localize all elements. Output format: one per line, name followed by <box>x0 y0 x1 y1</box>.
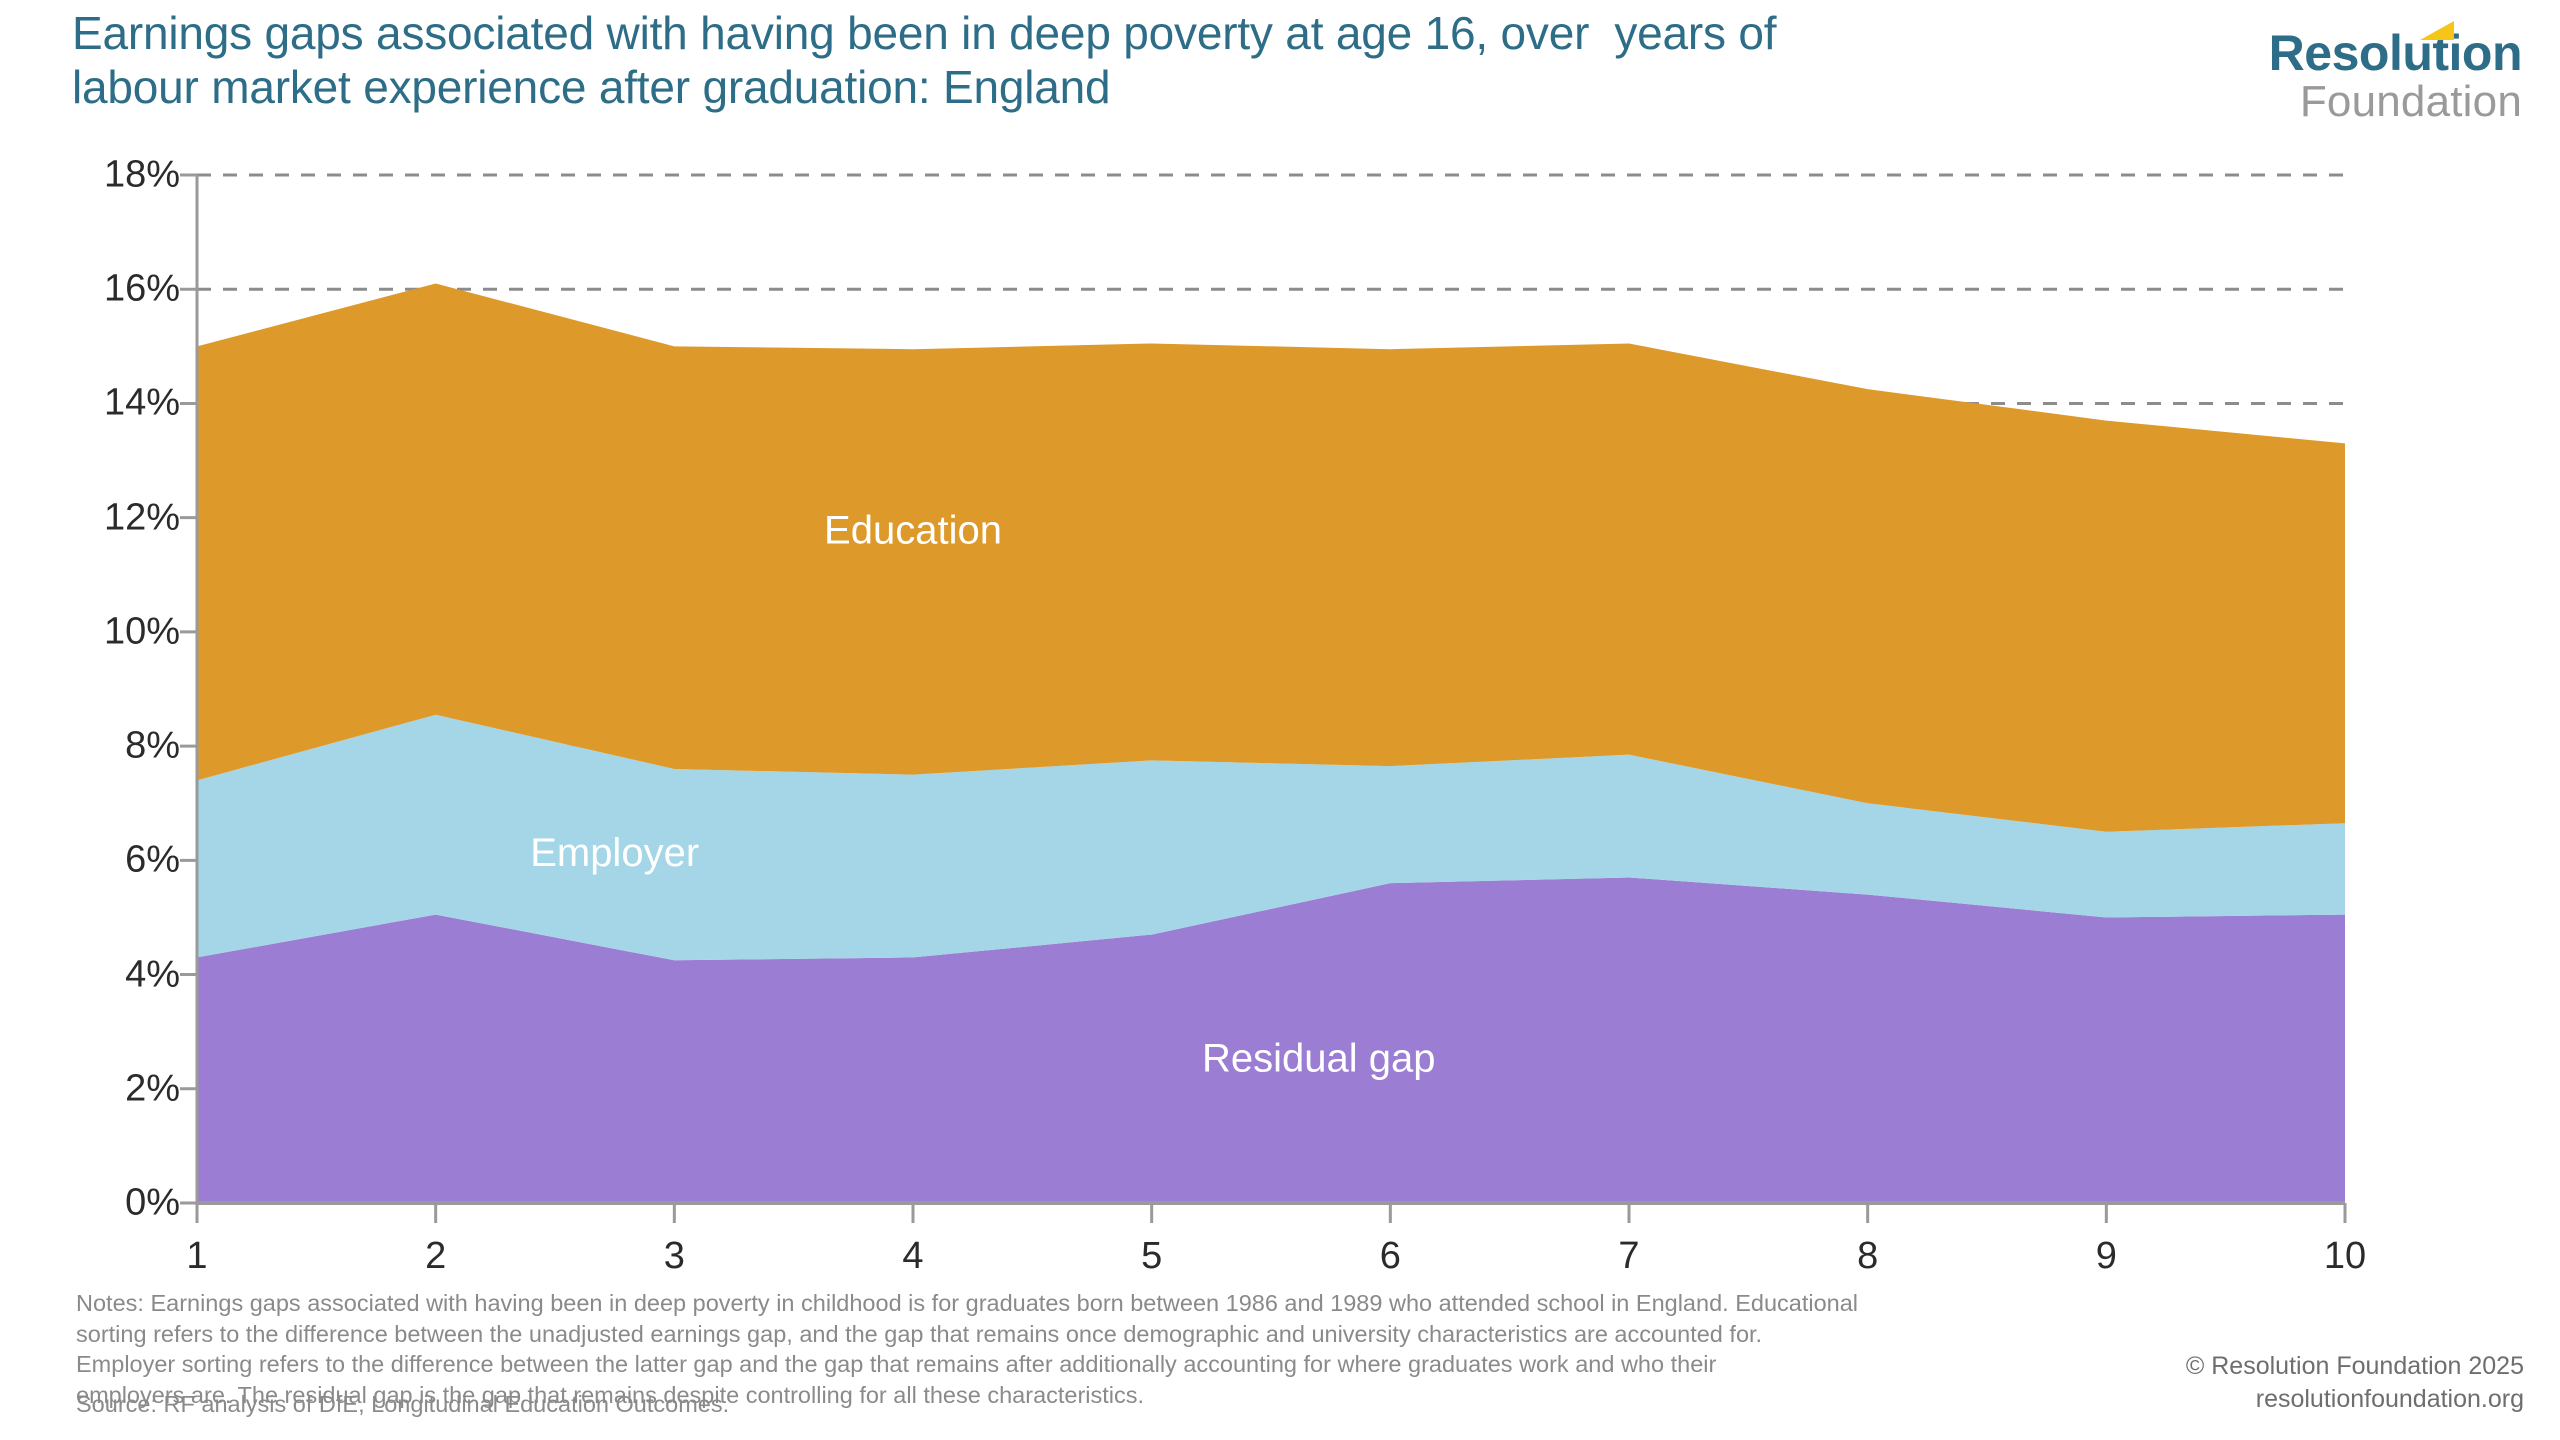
copyright-block: © Resolution Foundation 2025 resolutionf… <box>2186 1350 2524 1416</box>
chart-header: Earnings gaps associated with having bee… <box>0 0 2560 150</box>
logo-wordmark-top-text: Resolution <box>2269 25 2522 81</box>
series-label-residual-gap: Residual gap <box>1202 1037 1436 1081</box>
logo-wordmark-bottom: Foundation <box>2269 80 2522 124</box>
logo-accent-icon <box>2420 21 2454 40</box>
logo-wordmark-top: Resolution <box>2269 28 2522 78</box>
resolution-foundation-logo: Resolution Foundation <box>2269 28 2522 124</box>
chart-footer: Notes: Earnings gaps associated with hav… <box>0 1288 2560 1440</box>
stacked-area-chart: Residual gapEmployerEducation <box>0 150 2560 1270</box>
chart-plot-area: 0%2%4%6%8%10%12%14%16%18% 12345678910 Re… <box>0 150 2560 1270</box>
source-text: Source: RF analysis of DfE, Longitudinal… <box>76 1389 2116 1420</box>
series-label-education: Education <box>824 508 1002 552</box>
copyright-line: © Resolution Foundation 2025 <box>2186 1350 2524 1383</box>
page-title: Earnings gaps associated with having bee… <box>72 6 2152 115</box>
series-label-employer: Employer <box>530 831 699 875</box>
website-line: resolutionfoundation.org <box>2186 1383 2524 1416</box>
